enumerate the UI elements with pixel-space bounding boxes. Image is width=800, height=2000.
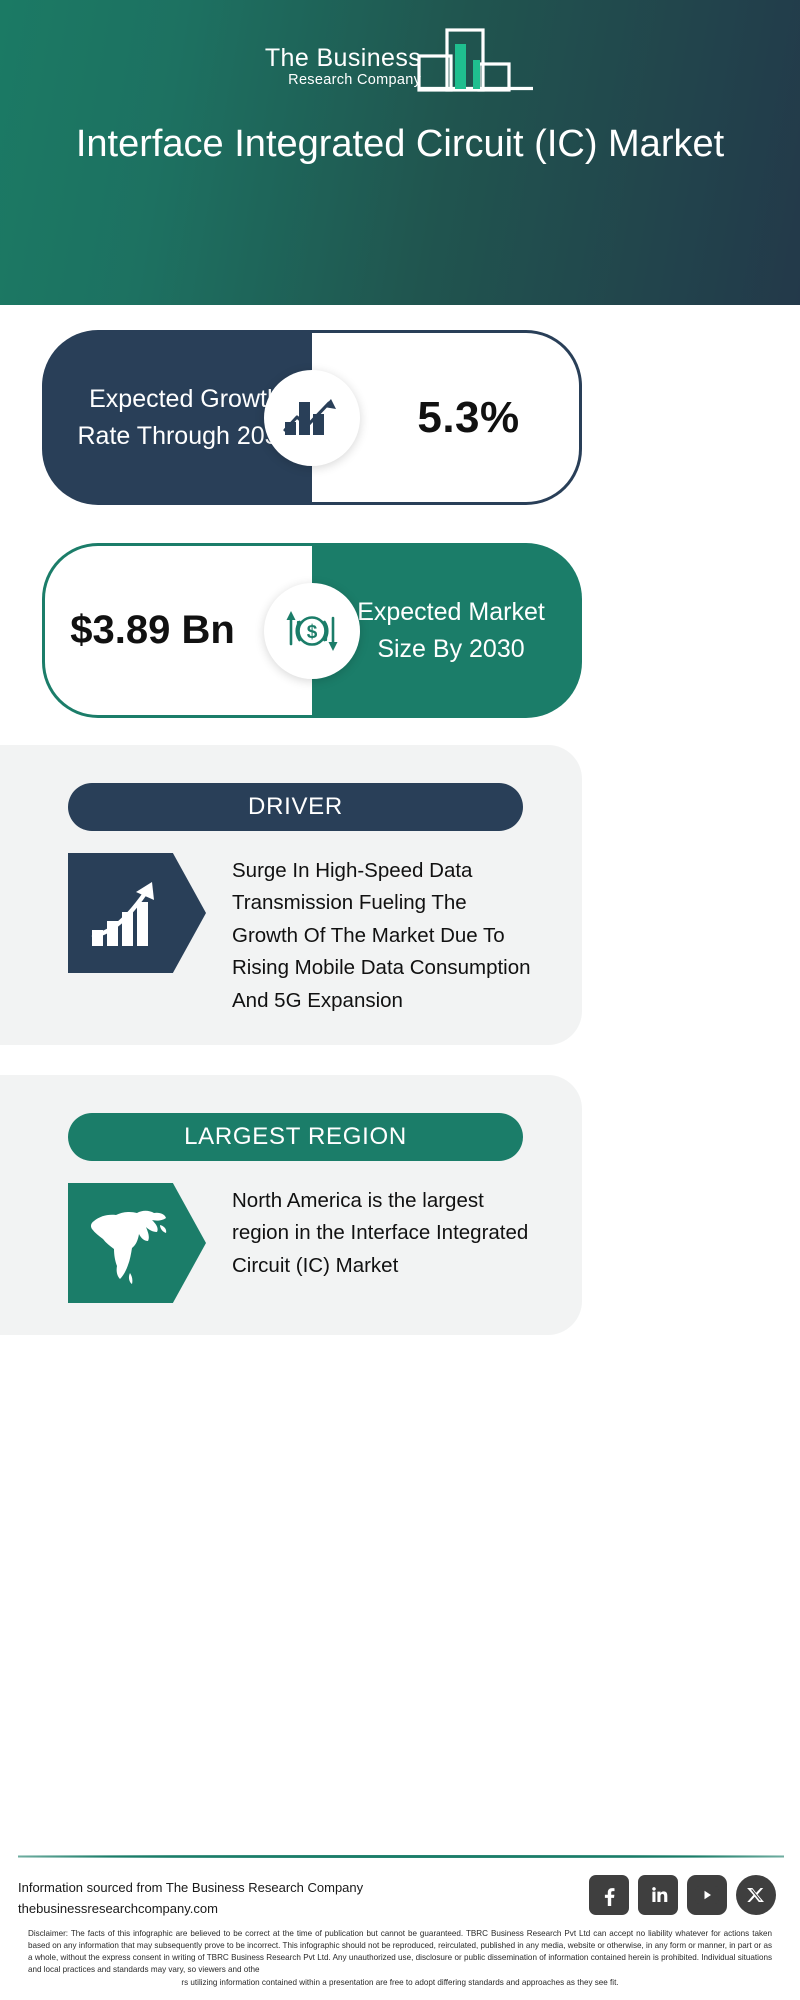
growth-chart-arrow-icon — [264, 370, 360, 466]
facebook-icon[interactable] — [589, 1875, 629, 1915]
disclaimer-last-line: rs utilizing information contained withi… — [28, 1977, 772, 1989]
driver-heading-pill: DRIVER — [68, 783, 523, 831]
stat-card-market-size-label: Expected Market Size By 2030 — [342, 594, 560, 668]
company-logo: The Business Research Company — [0, 22, 800, 94]
social-links — [589, 1875, 776, 1915]
infographic-page: The Business Research Company Interface … — [0, 0, 800, 2000]
footer-divider — [18, 1855, 784, 1858]
logo-wordmark: The Business Research Company — [265, 46, 421, 94]
driver-body-text: Surge In High-Speed Data Transmission Fu… — [232, 853, 562, 1017]
largest-region-heading-pill: LARGEST REGION — [68, 1113, 523, 1161]
stat-card-growth-rate-value: 5.3% — [371, 393, 519, 443]
svg-text:$: $ — [307, 622, 318, 643]
driver-panel: DRIVER Surge In High-Speed Data Transmis… — [0, 745, 582, 1045]
page-title: Interface Integrated Circuit (IC) Market — [0, 120, 800, 169]
logo-line-1: The Business — [265, 46, 421, 72]
footer-source-line-2[interactable]: thebusinessresearchcompany.com — [18, 1898, 448, 1919]
x-twitter-icon[interactable] — [736, 1875, 776, 1915]
driver-body: Surge In High-Speed Data Transmission Fu… — [68, 853, 562, 1017]
stat-card-market-size-value: $3.89 Bn — [70, 603, 287, 658]
driver-heading-label: DRIVER — [248, 793, 343, 821]
stat-card-growth-rate-label: Expected Growth Rate Through 2030 — [76, 381, 294, 455]
footer-source-line-1: Information sourced from The Business Re… — [18, 1877, 448, 1898]
dollar-cycle-icon: $ — [264, 583, 360, 679]
largest-region-body-text: North America is the largest region in t… — [232, 1183, 562, 1282]
disclaimer-text: Disclaimer: The facts of this infographi… — [28, 1928, 772, 1989]
header-banner: The Business Research Company Interface … — [0, 0, 800, 305]
north-america-map-icon — [68, 1183, 206, 1303]
ascending-bar-chart-arrow-icon — [68, 853, 206, 973]
largest-region-body: North America is the largest region in t… — [68, 1183, 562, 1303]
logo-line-2: Research Company — [288, 73, 421, 88]
stat-card-growth-rate: Expected Growth Rate Through 2030 5.3% — [42, 330, 582, 505]
youtube-icon[interactable] — [687, 1875, 727, 1915]
largest-region-panel: LARGEST REGION North America is the larg… — [0, 1075, 582, 1335]
disclaimer-main: Disclaimer: The facts of this infographi… — [28, 1929, 772, 1974]
linkedin-icon[interactable] — [638, 1875, 678, 1915]
bar-chart-logo-icon — [417, 22, 535, 94]
footer-source: Information sourced from The Business Re… — [18, 1877, 448, 1919]
stat-card-market-size: $3.89 Bn Expected Market Size By 2030 $ — [42, 543, 582, 718]
largest-region-heading-label: LARGEST REGION — [184, 1123, 407, 1151]
